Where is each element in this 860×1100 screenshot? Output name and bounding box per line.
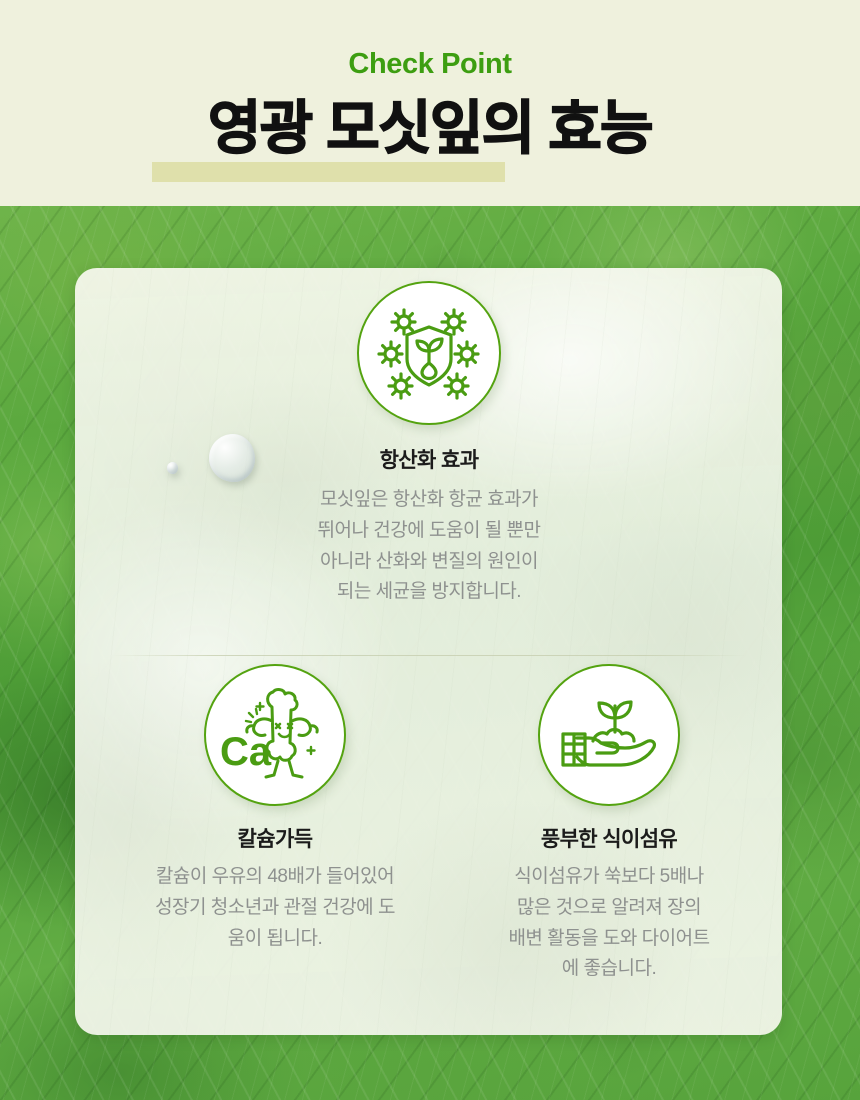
content-card: 항산화 효과 모싯잎은 항산화 항균 효과가 뛰어나 건강에 도움이 될 뿐만 …	[75, 268, 782, 1035]
hand-sprout-icon	[538, 664, 680, 806]
feature-body: 칼슘이 우유의 48배가 들어있어 성장기 청소년과 관절 건강에 도 움이 됩…	[103, 862, 447, 954]
calcium-bone-icon: Ca	[204, 664, 346, 806]
feature-dietary-fiber: 풍부한 식이섬유 식이섬유가 쑥보다 5배나 많은 것으로 알려져 장의 배변 …	[437, 664, 781, 985]
section-divider	[111, 655, 746, 656]
page-title: 영광 모싯잎의 효능	[208, 100, 652, 158]
eyebrow-label: Check Point	[0, 48, 860, 81]
feature-antioxidant: 항산화 효과 모싯잎은 항산화 항균 효과가 뛰어나 건강에 도움이 될 뿐만 …	[204, 281, 654, 608]
header-banner: Check Point 영광 모싯잎의 효능	[0, 0, 860, 206]
product-detail-page: Check Point 영광 모싯잎의 효능	[0, 0, 860, 1100]
feature-title: 항산화 효과	[204, 444, 654, 474]
feature-title: 풍부한 식이섬유	[437, 823, 781, 853]
feature-calcium: Ca	[103, 664, 447, 954]
page-title-wrap: 영광 모싯잎의 효능	[0, 100, 860, 184]
title-highlight-bar	[152, 162, 505, 182]
water-droplet-small-icon	[167, 462, 178, 474]
shield-leaf-germs-icon	[357, 281, 501, 425]
feature-body: 모싯잎은 항산화 항균 효과가 뛰어나 건강에 도움이 될 뿐만 아니라 산화와…	[204, 485, 654, 608]
feature-body: 식이섬유가 쑥보다 5배나 많은 것으로 알려져 장의 배변 활동을 도와 다이…	[437, 862, 781, 985]
feature-title: 칼슘가득	[103, 823, 447, 853]
